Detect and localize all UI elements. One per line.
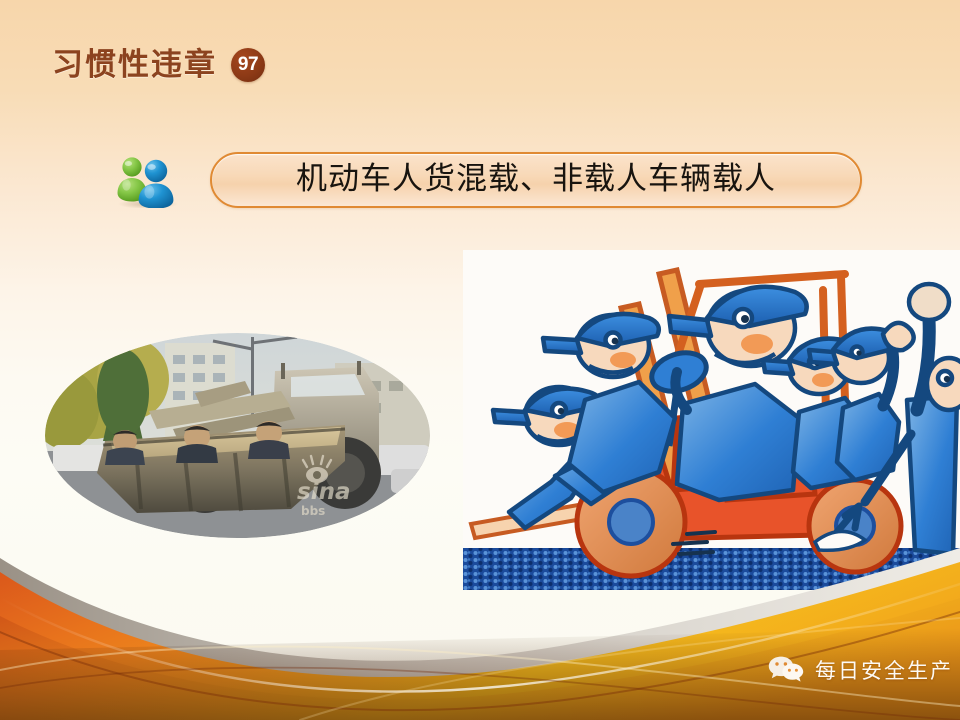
slide-canvas: 习惯性违章 97 xyxy=(0,0,960,720)
slide-header: 习惯性违章 97 xyxy=(52,48,265,82)
svg-text:bbs: bbs xyxy=(301,504,325,518)
footer-text: 每日安全生产 xyxy=(815,661,953,682)
wheel-loader-bucket-photo: sina bbs xyxy=(45,333,430,538)
wechat-icon xyxy=(768,655,804,687)
subtitle-text: 机动车人货混载、非载人车辆载人 xyxy=(296,164,776,197)
two-people-icon xyxy=(110,152,182,208)
footer-wechat-badge: 每日安全生产 xyxy=(768,655,953,687)
page-number-badge: 97 xyxy=(231,48,265,82)
page-title: 习惯性违章 xyxy=(52,50,217,81)
decorative-orange-wave xyxy=(0,520,960,720)
subtitle-banner: 机动车人货混载、非载人车辆载人 xyxy=(210,152,862,208)
svg-text:sina: sina xyxy=(297,479,350,505)
